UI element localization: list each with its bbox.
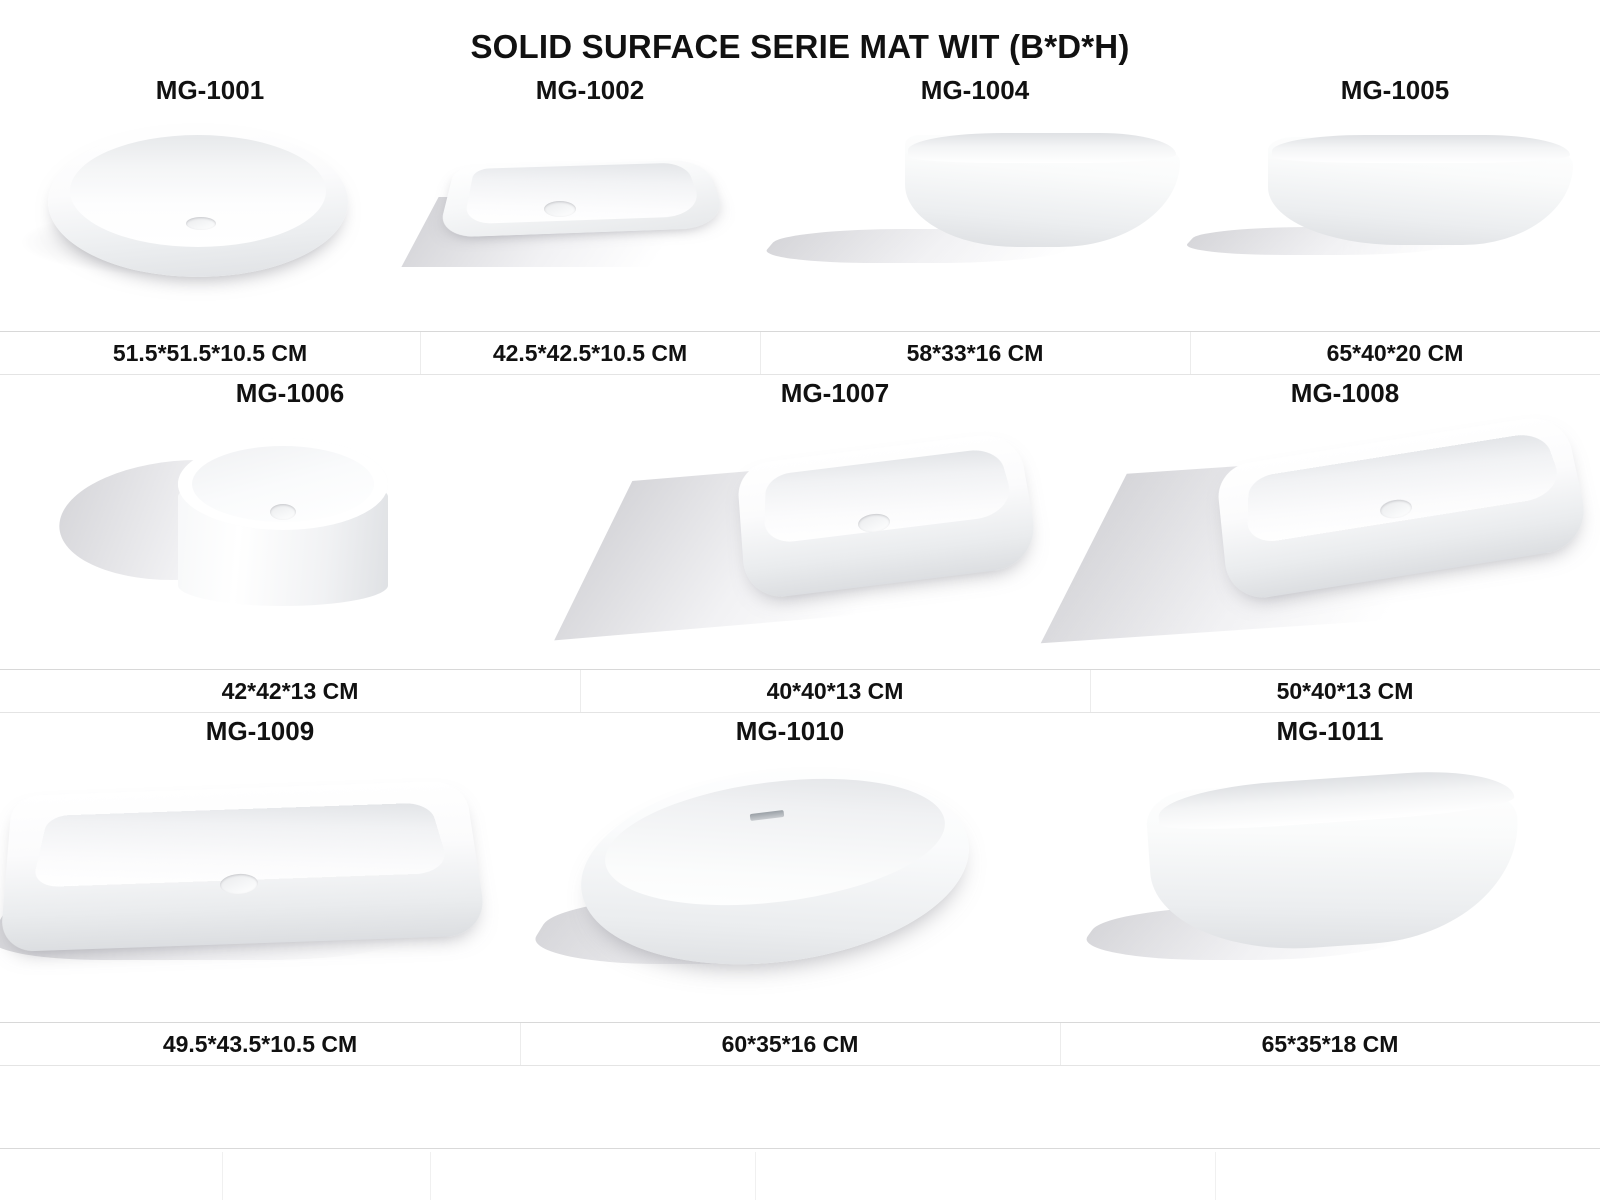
product-code-label: MG-1001: [0, 76, 420, 105]
catalog-row-1: MG-1001 MG-1002: [0, 76, 1600, 375]
product-cell-mg-1007[interactable]: MG-1007: [580, 379, 1090, 669]
footer-grid-line: [222, 1152, 223, 1200]
dimension-strip-row-1: 51.5*51.5*10.5 CM 42.5*42.5*10.5 CM 58*3…: [0, 331, 1600, 375]
product-grid-row-3: MG-1009 MG-1010: [0, 717, 1600, 1022]
catalog-row-2: MG-1006 MG-1007: [0, 379, 1600, 713]
product-catalog: MG-1001 MG-1002: [0, 76, 1600, 1066]
product-dimensions-mg-1005: 65*40*20 CM: [1190, 340, 1600, 367]
product-image-mg-1009: [0, 760, 520, 1000]
product-code-label: MG-1004: [760, 76, 1190, 105]
product-cell-mg-1002[interactable]: MG-1002: [420, 76, 760, 331]
product-cell-mg-1001[interactable]: MG-1001: [0, 76, 420, 331]
product-cell-mg-1005[interactable]: MG-1005: [1190, 76, 1600, 331]
drain-hole-icon: [186, 217, 216, 230]
product-image-mg-1010: [520, 758, 1060, 1000]
page-title: SOLID SURFACE SERIE MAT WIT (B*D*H): [0, 0, 1600, 66]
product-code-label: MG-1009: [0, 717, 520, 746]
product-dimensions-mg-1006: 42*42*13 CM: [0, 678, 580, 705]
product-image-mg-1008: [1090, 416, 1600, 648]
product-code-label: MG-1011: [1060, 717, 1600, 746]
product-image-mg-1004: [760, 121, 1190, 296]
footer-divider: [0, 1148, 1600, 1149]
product-cell-mg-1011[interactable]: MG-1011: [1060, 717, 1600, 1022]
product-cell-mg-1010[interactable]: MG-1010: [520, 717, 1060, 1022]
product-dimensions-mg-1009: 49.5*43.5*10.5 CM: [0, 1031, 520, 1058]
product-dimensions-mg-1007: 40*40*13 CM: [580, 678, 1090, 705]
drain-hole-icon: [544, 201, 576, 217]
product-cell-mg-1006[interactable]: MG-1006: [0, 379, 580, 669]
product-dimensions-mg-1008: 50*40*13 CM: [1090, 678, 1600, 705]
product-dimensions-mg-1010: 60*35*16 CM: [520, 1031, 1060, 1058]
drain-hole-icon: [270, 504, 296, 520]
product-code-label: MG-1007: [580, 379, 1090, 408]
product-code-label: MG-1010: [520, 717, 1060, 746]
product-image-mg-1002: [420, 119, 760, 299]
product-dimensions-mg-1001: 51.5*51.5*10.5 CM: [0, 340, 420, 367]
footer-grid-line: [755, 1152, 756, 1200]
product-code-label: MG-1008: [1090, 379, 1600, 408]
footer-grid-line: [1215, 1152, 1216, 1200]
footer-grid-line: [430, 1152, 431, 1200]
product-dimensions-mg-1011: 65*35*18 CM: [1060, 1031, 1600, 1058]
product-code-label: MG-1002: [420, 76, 760, 105]
product-image-mg-1007: [580, 422, 1090, 648]
product-image-mg-1005: [1190, 123, 1600, 295]
product-dimensions-mg-1002: 42.5*42.5*10.5 CM: [420, 340, 760, 367]
product-image-mg-1001: [0, 117, 420, 302]
product-code-label: MG-1006: [0, 379, 580, 408]
product-grid-row-1: MG-1001 MG-1002: [0, 76, 1600, 331]
product-cell-mg-1009[interactable]: MG-1009: [0, 717, 520, 1022]
product-dimensions-mg-1004: 58*33*16 CM: [760, 340, 1190, 367]
dimension-strip-row-3: 49.5*43.5*10.5 CM 60*35*16 CM 65*35*18 C…: [0, 1022, 1600, 1066]
product-code-label: MG-1005: [1190, 76, 1600, 105]
product-image-mg-1011: [1060, 764, 1600, 1000]
dimension-strip-row-2: 42*42*13 CM 40*40*13 CM 50*40*13 CM: [0, 669, 1600, 713]
product-cell-mg-1008[interactable]: MG-1008: [1090, 379, 1600, 669]
catalog-row-3: MG-1009 MG-1010: [0, 717, 1600, 1066]
product-grid-row-2: MG-1006 MG-1007: [0, 379, 1600, 669]
product-image-mg-1006: [0, 418, 580, 648]
product-cell-mg-1004[interactable]: MG-1004: [760, 76, 1190, 331]
